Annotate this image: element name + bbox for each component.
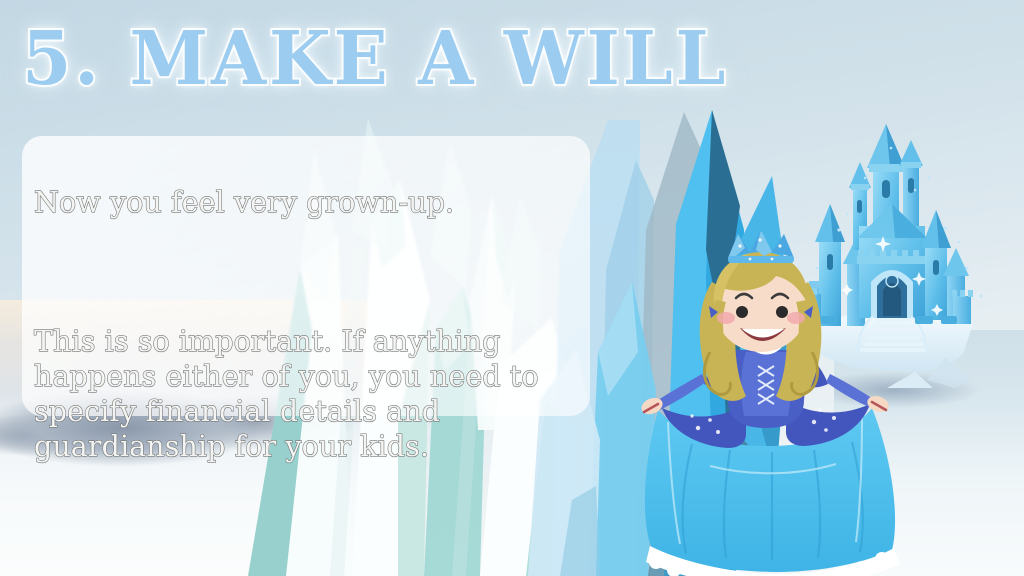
- body-text: Now you feel very grown-up. This is so i…: [34, 150, 590, 499]
- princess-character: [600, 232, 920, 576]
- paragraph-spacer: [34, 255, 590, 289]
- body-paragraph-2: This is so important. If anything happen…: [34, 324, 590, 464]
- body-paragraph-1: Now you feel very grown-up.: [34, 185, 590, 220]
- slide-canvas: Now you feel very grown-up. This is so i…: [0, 0, 1024, 576]
- page-title: 5. MAKE A WILL: [22, 17, 728, 101]
